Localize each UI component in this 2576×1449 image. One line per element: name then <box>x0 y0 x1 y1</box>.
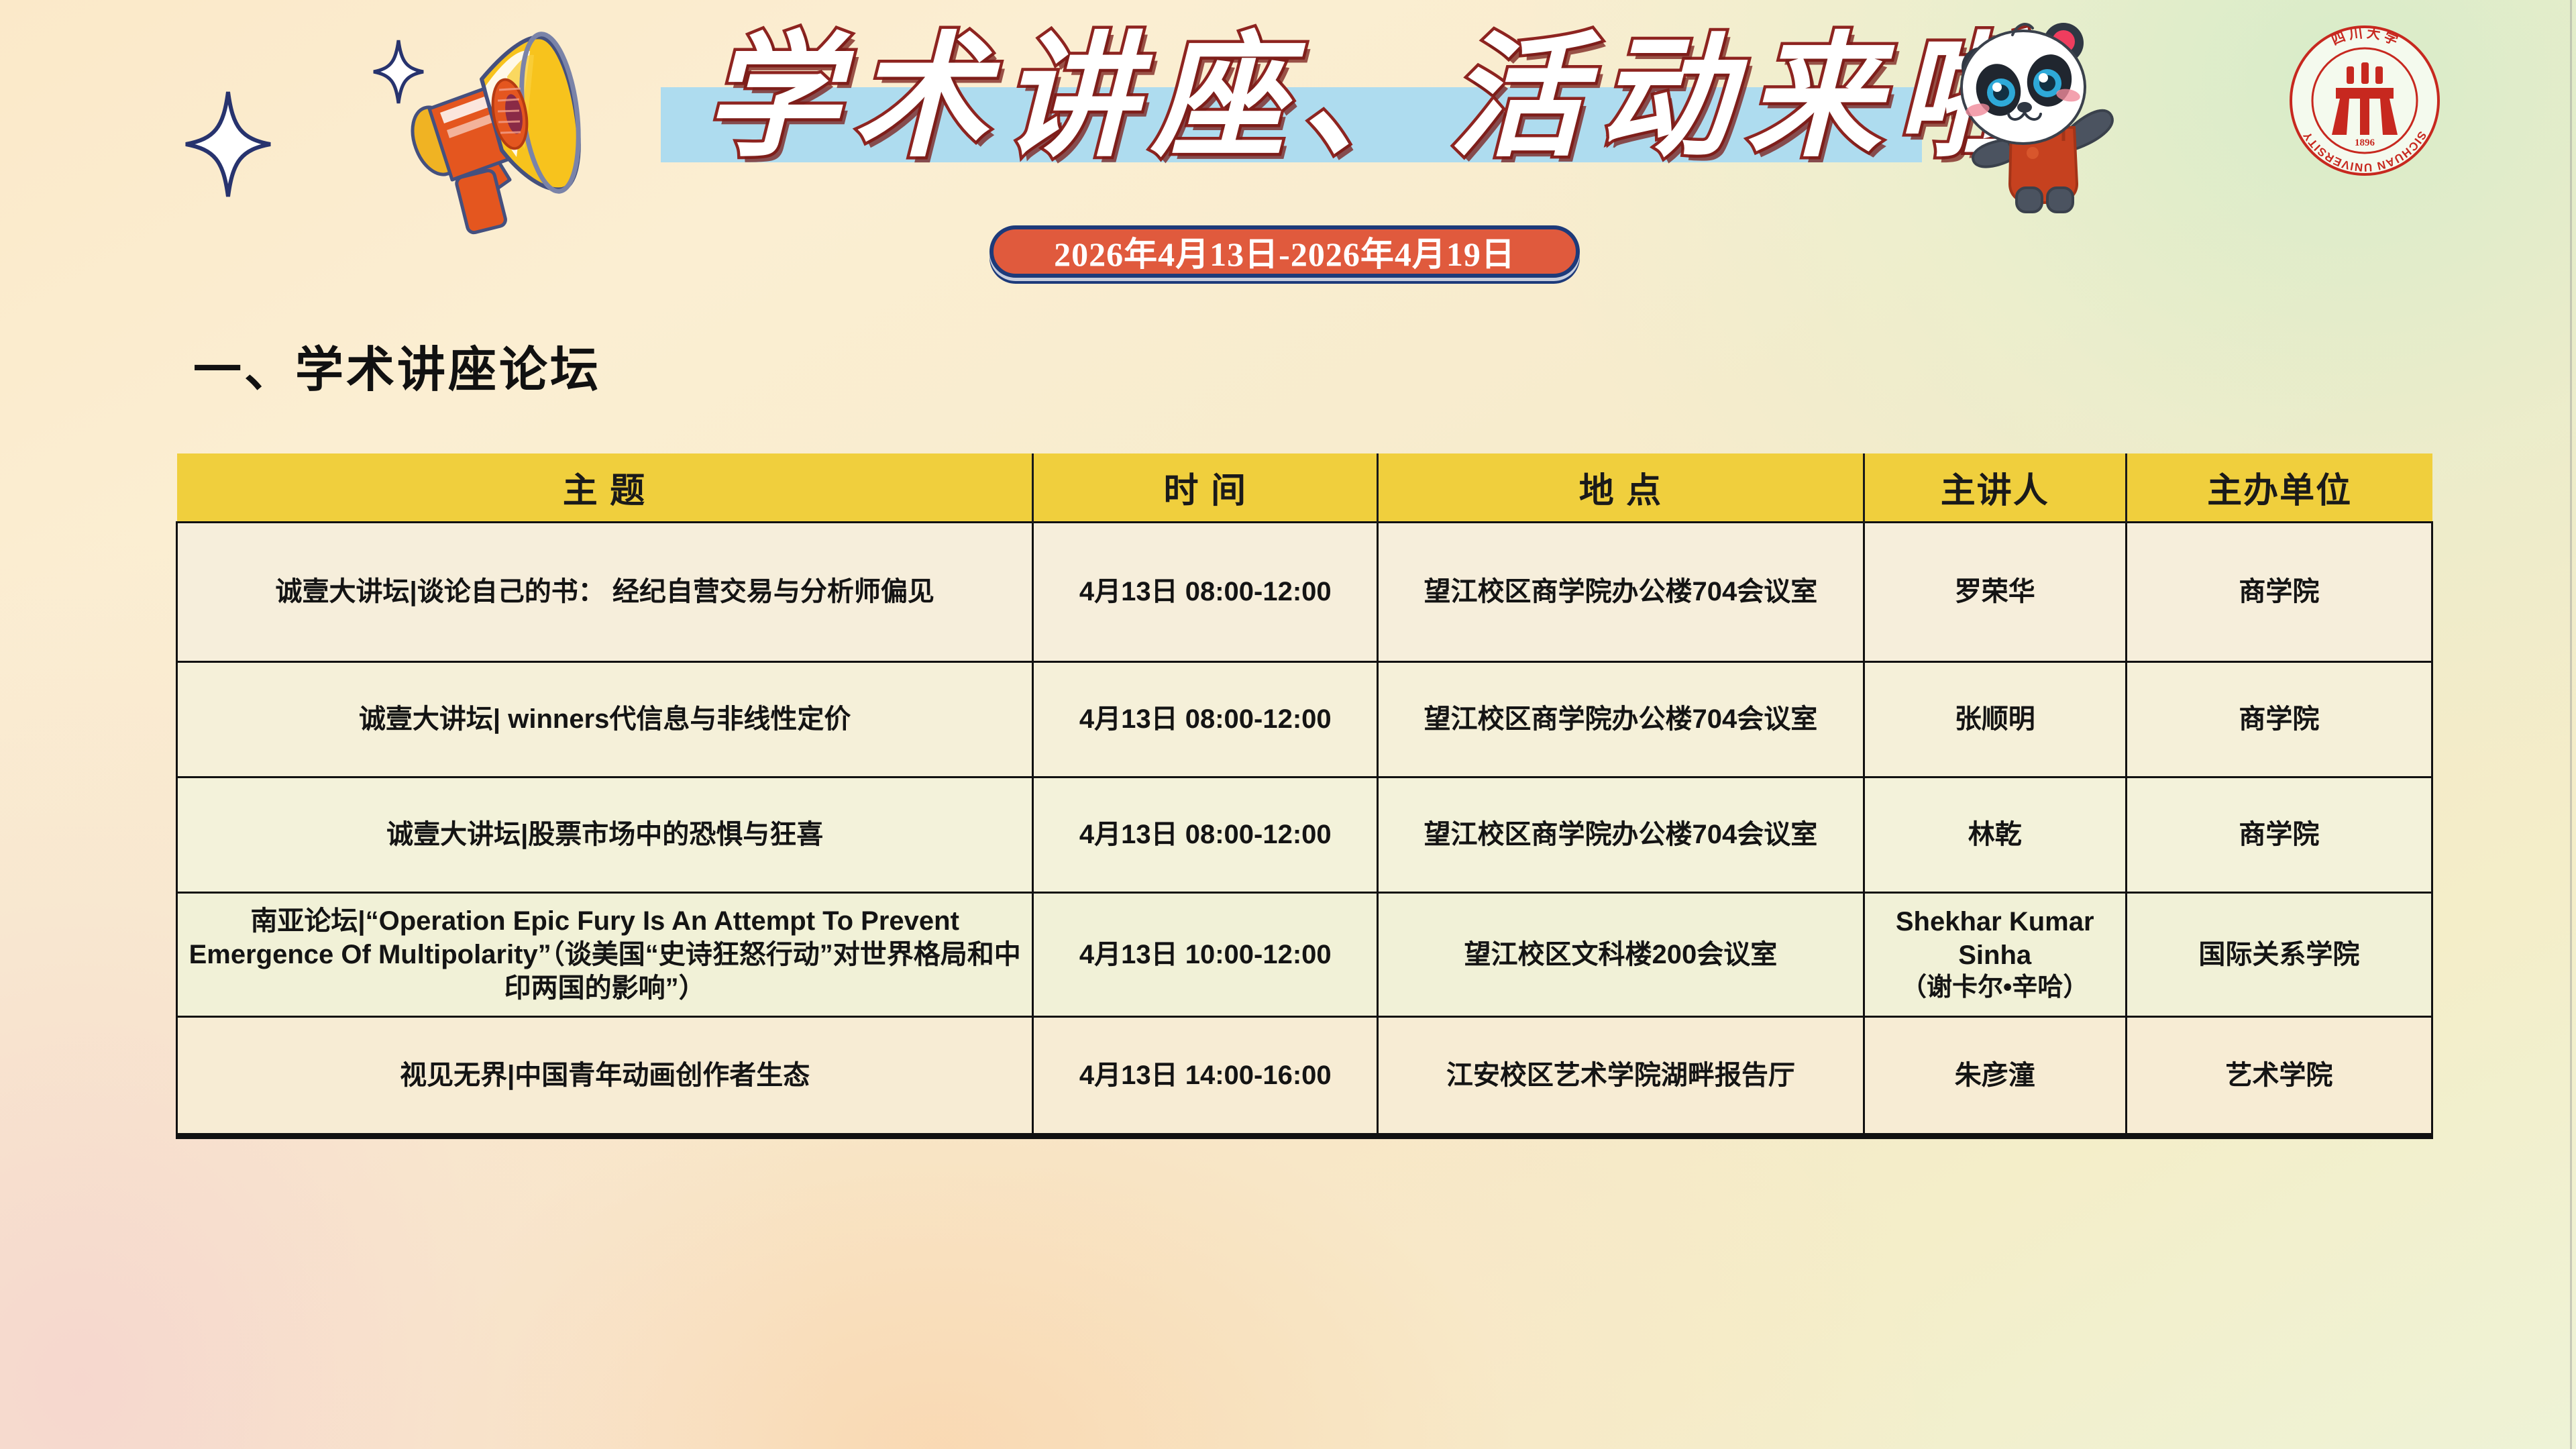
cell-place: 江安校区艺术学院湖畔报告厅 <box>1378 1016 1864 1136</box>
cell-org: 艺术学院 <box>2126 1016 2432 1136</box>
cell-org: 商学院 <box>2126 777 2432 892</box>
table-row: 诚壹大讲坛| winners代信息与非线性定价 4月13日 08:00-12:0… <box>177 661 2432 777</box>
schedule-table: 主 题 时 间 地 点 主讲人 主办单位 诚壹大讲坛|谈论自己的书： 经纪自营交… <box>176 453 2433 1139</box>
table-row: 南亚论坛|“Operation Epic Fury Is An Attempt … <box>177 892 2432 1016</box>
speaker-name-cn: （谢卡尔•辛哈） <box>1874 972 2116 1004</box>
cell-time: 4月13日 14:00-16:00 <box>1033 1016 1378 1136</box>
cell-place: 望江校区商学院办公楼704会议室 <box>1378 522 1864 661</box>
date-range-badge: 2026年4月13日-2026年4月19日 <box>989 225 1580 278</box>
table-header-row: 主 题 时 间 地 点 主讲人 主办单位 <box>177 453 2432 522</box>
cell-time: 4月13日 08:00-12:00 <box>1033 777 1378 892</box>
page-title: 学术讲座、活动来啦 <box>704 32 1885 166</box>
cell-speaker: 罗荣华 <box>1864 522 2126 661</box>
table-row: 诚壹大讲坛|股票市场中的恐惧与狂喜 4月13日 08:00-12:00 望江校区… <box>177 777 2432 892</box>
cell-speaker: 林乾 <box>1864 777 2126 892</box>
cell-time: 4月13日 08:00-12:00 <box>1033 522 1378 661</box>
cell-place: 望江校区商学院办公楼704会议室 <box>1378 777 1864 892</box>
cell-speaker: 朱彦潼 <box>1864 1016 2126 1136</box>
cell-place: 望江校区商学院办公楼704会议室 <box>1378 661 1864 777</box>
cell-topic: 视见无界|中国青年动画创作者生态 <box>177 1016 1033 1136</box>
column-header-time: 时 间 <box>1033 453 1378 522</box>
column-header-org: 主办单位 <box>2126 453 2432 522</box>
panda-mascot-icon <box>1932 8 2153 223</box>
column-header-place: 地 点 <box>1378 453 1864 522</box>
cell-topic: 诚壹大讲坛|谈论自己的书： 经纪自营交易与分析师偏见 <box>177 522 1033 661</box>
table-row: 视见无界|中国青年动画创作者生态 4月13日 14:00-16:00 江安校区艺… <box>177 1016 2432 1136</box>
megaphone-icon <box>309 7 631 235</box>
sichuan-university-logo: 1896 四 川 大 学 SICHUAN UNIVERSITY <box>2288 23 2442 178</box>
cell-place: 望江校区文科楼200会议室 <box>1378 892 1864 1016</box>
schedule-table-wrapper: 主 题 时 间 地 点 主讲人 主办单位 诚壹大讲坛|谈论自己的书： 经纪自营交… <box>176 453 2433 1139</box>
speaker-name-en: Shekhar Kumar Sinha <box>1874 905 2116 972</box>
poster-header: 学术讲座、活动来啦 2026年4月13日-2026年4月19日 <box>0 0 2576 315</box>
section-heading: 一、学术讲座论坛 <box>193 330 601 400</box>
column-header-speaker: 主讲人 <box>1864 453 2126 522</box>
cell-org: 国际关系学院 <box>2126 892 2432 1016</box>
cell-org: 商学院 <box>2126 522 2432 661</box>
column-header-topic: 主 题 <box>177 453 1033 522</box>
table-row: 诚壹大讲坛|谈论自己的书： 经纪自营交易与分析师偏见 4月13日 08:00-1… <box>177 522 2432 661</box>
cell-topic: 诚壹大讲坛| winners代信息与非线性定价 <box>177 661 1033 777</box>
date-range-text: 2026年4月13日-2026年4月19日 <box>1054 227 1515 276</box>
cell-topic: 南亚论坛|“Operation Epic Fury Is An Attempt … <box>177 892 1033 1016</box>
cell-time: 4月13日 08:00-12:00 <box>1033 661 1378 777</box>
cell-time: 4月13日 10:00-12:00 <box>1033 892 1378 1016</box>
cell-org: 商学院 <box>2126 661 2432 777</box>
sparkle-icon <box>184 91 272 198</box>
cell-speaker: 张顺明 <box>1864 661 2126 777</box>
cell-speaker: Shekhar Kumar Sinha （谢卡尔•辛哈） <box>1864 892 2126 1016</box>
cell-topic: 诚壹大讲坛|股票市场中的恐惧与狂喜 <box>177 777 1033 892</box>
logo-year: 1896 <box>2355 138 2375 148</box>
slide-canvas: 学术讲座、活动来啦 2026年4月13日-2026年4月19日 <box>0 0 2576 1449</box>
